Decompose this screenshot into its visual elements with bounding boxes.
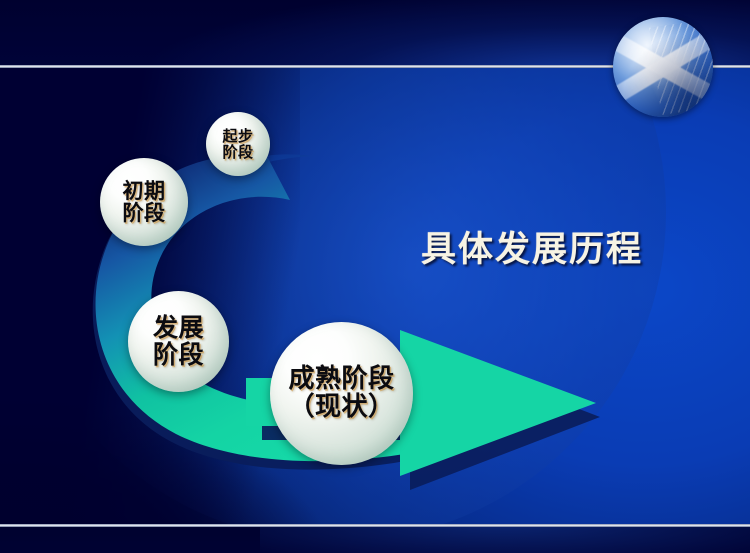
stage-mature[interactable]: 成熟阶段 （现状） xyxy=(270,322,413,465)
stage-growth-line-2: 阶段 xyxy=(153,342,204,369)
stage-start-line-1: 起步 xyxy=(222,128,253,144)
stage-early-line-1: 初期 xyxy=(123,180,166,202)
stage-growth[interactable]: 发展 阶段 xyxy=(128,291,229,392)
stage-mature-line-1: 成熟阶段 xyxy=(288,366,394,394)
page-title: 具体发展历程 xyxy=(421,221,643,272)
globe-shading xyxy=(613,17,713,117)
bottom-band-glow xyxy=(260,525,750,553)
globe-icon xyxy=(613,17,713,117)
stage-start-line-2: 阶段 xyxy=(222,144,253,160)
bottom-divider-line xyxy=(0,524,750,527)
stage-growth-line-1: 发展 xyxy=(153,315,204,342)
stage-start[interactable]: 起步 阶段 xyxy=(206,112,270,176)
stage-early-line-2: 阶段 xyxy=(123,202,166,224)
stage-mature-line-2: （现状） xyxy=(288,394,394,422)
stage-early[interactable]: 初期 阶段 xyxy=(100,158,188,246)
slide-canvas: 起步 阶段 初期 阶段 发展 阶段 成熟阶段 （现状） 具体发展历程 xyxy=(0,0,750,553)
